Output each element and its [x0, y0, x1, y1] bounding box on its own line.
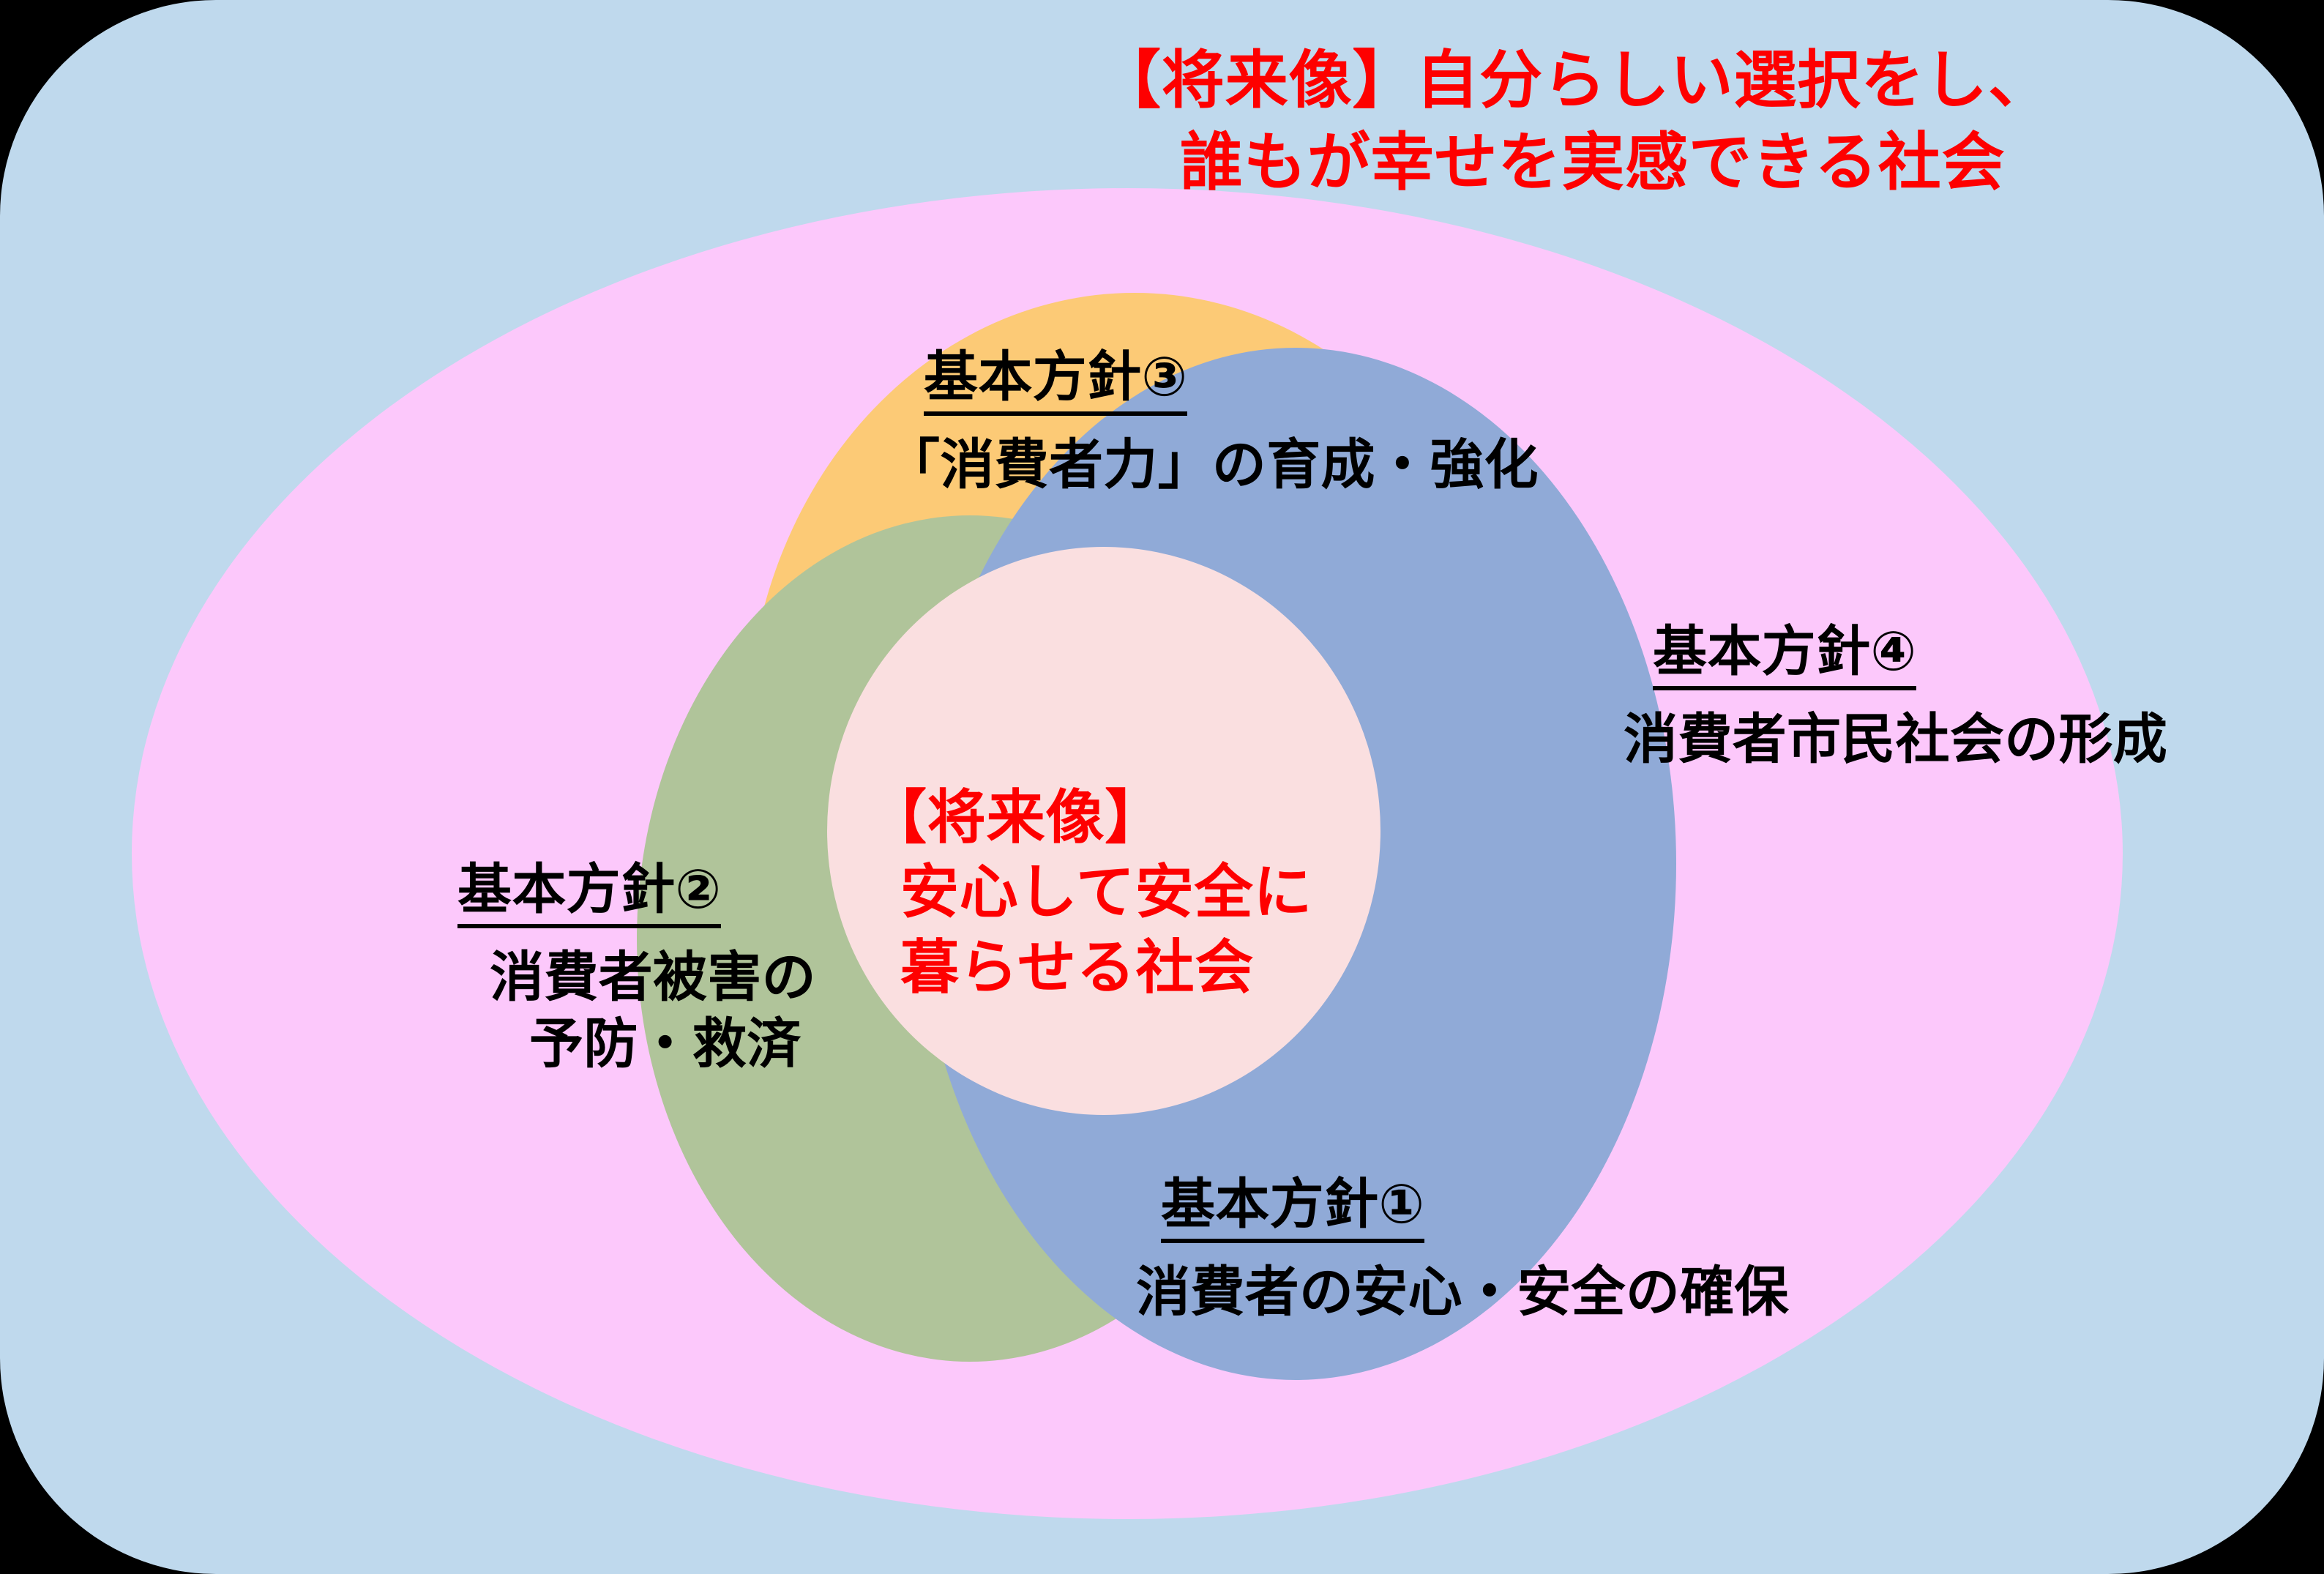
- center-vision-line2: 安心して安全に: [868, 855, 1312, 930]
- policy-3-heading: 基本方針③: [924, 344, 1187, 416]
- policy-1-body-line1: 消費者の安心・安全の確保: [1136, 1259, 1789, 1325]
- center-vision-line1: 【将来像】: [868, 783, 1164, 851]
- diagram-canvas: 【将来像】自分らしい選択をし、 誰もが幸せを実感できる社会 基本方針③ 「消費者…: [0, 0, 2324, 1574]
- policy-2-body-line2: 予防・救済: [529, 1011, 816, 1077]
- policy-4-heading: 基本方針④: [1653, 619, 1916, 690]
- policy-3-body: 「消費者力」の育成・強化: [886, 432, 1539, 498]
- policy-4-body: 消費者市民社会の形成: [1624, 706, 2167, 772]
- center-vision-line3: 暮らせる社会: [868, 930, 1312, 1005]
- vision-title: 【将来像】自分らしい選択をし、 誰もが幸せを実感できる社会: [1098, 40, 2052, 204]
- label-policy-1: 基本方針① 消費者の安心・安全の確保: [1161, 1171, 1789, 1326]
- vision-title-line1: 【将来像】自分らしい選択をし、: [1098, 44, 2052, 117]
- label-policy-4: 基本方針④ 消費者市民社会の形成: [1653, 619, 2167, 773]
- policy-2-body-line1: 消費者被害の: [490, 944, 816, 1010]
- policy-2-body: 消費者被害の 予防・救済: [490, 944, 816, 1077]
- text-layer: 【将来像】自分らしい選択をし、 誰もが幸せを実感できる社会 基本方針③ 「消費者…: [0, 0, 2324, 1574]
- center-vision-text: 【将来像】 安心して安全に 暮らせる社会: [868, 780, 1312, 1005]
- policy-1-body: 消費者の安心・安全の確保: [1136, 1259, 1789, 1325]
- policy-2-heading: 基本方針②: [457, 857, 721, 928]
- label-policy-2: 基本方針② 消費者被害の 予防・救済: [457, 857, 816, 1077]
- policy-3-body-line1: 「消費者力」の育成・強化: [886, 432, 1539, 498]
- vision-title-line2: 誰もが幸せを実感できる社会: [1098, 122, 2052, 204]
- label-policy-3: 基本方針③ 「消費者力」の育成・強化: [924, 344, 1539, 499]
- policy-4-body-line1: 消費者市民社会の形成: [1624, 706, 2167, 772]
- policy-1-heading: 基本方針①: [1161, 1171, 1424, 1243]
